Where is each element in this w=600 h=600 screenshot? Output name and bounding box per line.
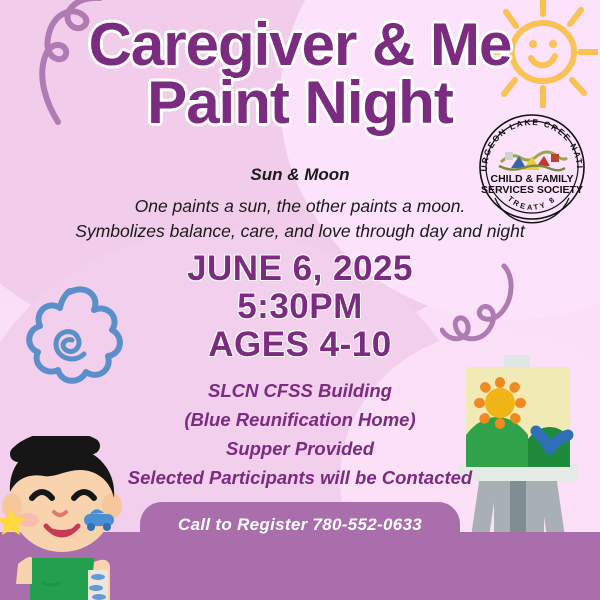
event-time: 5:30PM — [0, 288, 600, 326]
venue-line-2: (Blue Reunification Home) — [0, 405, 600, 434]
poster-canvas: Caregiver & Me Paint Night STURGEON LAKE… — [0, 0, 600, 600]
event-details: JUNE 6, 2025 5:30PM AGES 4-10 — [0, 250, 600, 364]
description-line-2: Symbolizes balance, care, and love throu… — [0, 219, 600, 244]
child-face-paint-icon — [0, 436, 138, 600]
poster-subtitle: Sun & Moon — [0, 165, 600, 185]
event-date: JUNE 6, 2025 — [0, 250, 600, 288]
poster-description: One paints a sun, the other paints a moo… — [0, 194, 600, 244]
title-line-1: Caregiver & Me — [0, 14, 600, 76]
call-to-register[interactable]: Call to Register 780-552-0633 — [140, 502, 460, 548]
description-line-1: One paints a sun, the other paints a moo… — [0, 194, 600, 219]
venue-line-1: SLCN CFSS Building — [0, 376, 600, 405]
